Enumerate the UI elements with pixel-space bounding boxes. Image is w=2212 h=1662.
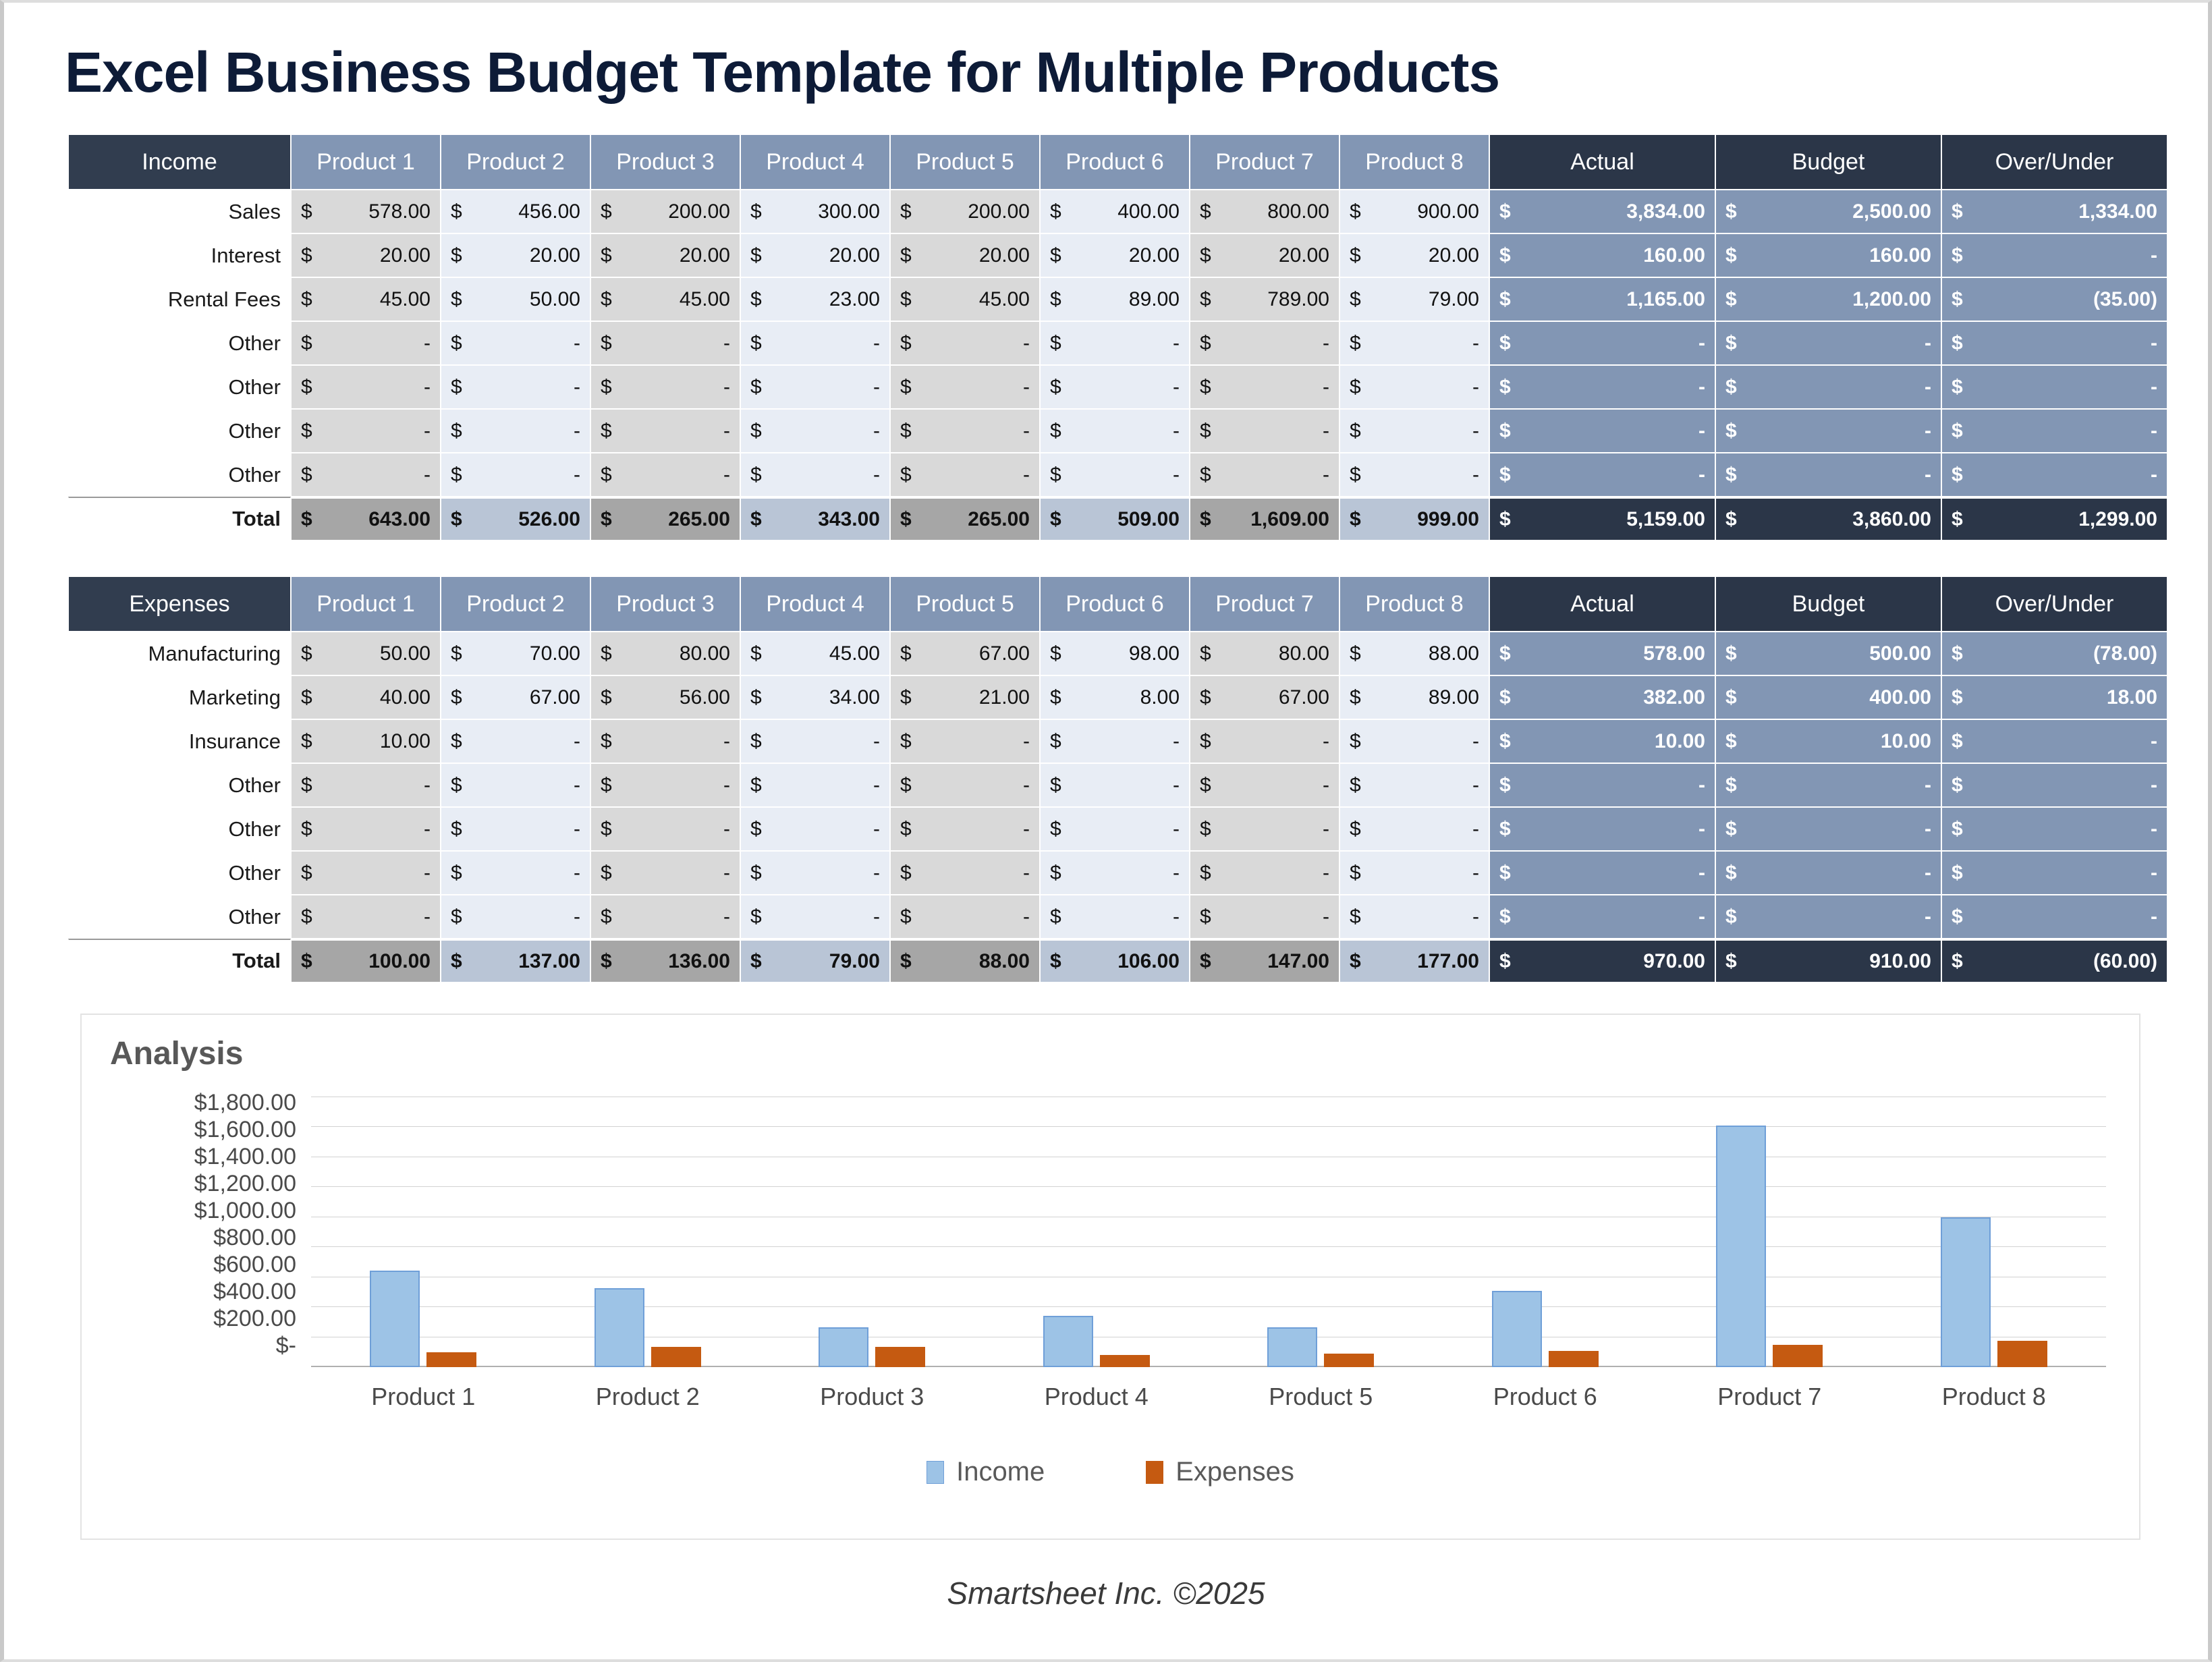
currency-symbol: $ <box>1499 730 1511 753</box>
income-cell-r1-p5[interactable]: $200.00 <box>890 190 1040 233</box>
bar-income-4[interactable] <box>1043 1316 1093 1367</box>
expenses-budget-r3[interactable]: $10.00 <box>1715 719 1941 763</box>
expenses-cell-r6-p8[interactable]: $- <box>1339 851 1489 895</box>
currency-symbol: $ <box>601 730 612 753</box>
expenses-cell-r7-p1[interactable]: $- <box>291 895 441 939</box>
expenses-total-p8[interactable]: $177.00 <box>1339 939 1489 982</box>
expenses-budget-r2[interactable]: $400.00 <box>1715 675 1941 719</box>
expenses-actual-r5[interactable]: $- <box>1489 807 1715 851</box>
expenses-cell-r1-p4[interactable]: $45.00 <box>740 632 890 675</box>
currency-symbol: $ <box>451 464 462 487</box>
income-cell-r7-p5[interactable]: $- <box>890 453 1040 497</box>
income-cell-r6-p7[interactable]: $- <box>1190 409 1339 453</box>
expenses-cell-r1-p2[interactable]: $70.00 <box>441 632 590 675</box>
cell-value: - <box>1698 420 1705 442</box>
cell-value: - <box>873 332 880 354</box>
expenses-row-label[interactable]: Manufacturing <box>68 632 291 675</box>
expenses-cell-r3-p2[interactable]: $- <box>441 719 590 763</box>
expenses-total-p1[interactable]: $100.00 <box>291 939 441 982</box>
currency-symbol: $ <box>1952 332 1963 355</box>
currency-symbol: $ <box>601 244 612 267</box>
bar-income-3[interactable] <box>819 1327 868 1367</box>
expenses-cell-r1-p3[interactable]: $80.00 <box>590 632 740 675</box>
expenses-cell-r2-p7[interactable]: $67.00 <box>1190 675 1339 719</box>
income-cell-r4-p3[interactable]: $- <box>590 321 740 365</box>
expenses-cell-r2-p3[interactable]: $56.00 <box>590 675 740 719</box>
expenses-actual-r7[interactable]: $- <box>1489 895 1715 939</box>
income-overunder-r6[interactable]: $- <box>1941 409 2167 453</box>
cell-value: - <box>1925 420 1931 442</box>
currency-symbol: $ <box>1499 464 1511 487</box>
expenses-total-p2[interactable]: $137.00 <box>441 939 590 982</box>
income-overunder-r3[interactable]: $(35.00) <box>1941 277 2167 321</box>
currency-symbol: $ <box>750 332 762 355</box>
income-cell-r4-p7[interactable]: $- <box>1190 321 1339 365</box>
chart-title: Analysis <box>110 1035 243 1072</box>
currency-symbol: $ <box>1200 774 1211 797</box>
currency-symbol: $ <box>1499 686 1511 709</box>
bar-expenses-2[interactable] <box>651 1347 701 1367</box>
expenses-cell-r1-p8[interactable]: $88.00 <box>1339 632 1489 675</box>
currency-symbol: $ <box>900 642 912 665</box>
expenses-cell-r6-p5[interactable]: $- <box>890 851 1040 895</box>
income-cell-r7-p4[interactable]: $- <box>740 453 890 497</box>
income-total-budget[interactable]: $3,860.00 <box>1715 497 1941 541</box>
income-cell-r6-p4[interactable]: $- <box>740 409 890 453</box>
income-budget-r6[interactable]: $- <box>1715 409 1941 453</box>
expenses-actual-r3[interactable]: $10.00 <box>1489 719 1715 763</box>
bar-expenses-3[interactable] <box>875 1347 925 1367</box>
income-cell-r5-p4[interactable]: $- <box>740 365 890 409</box>
income-cell-r5-p3[interactable]: $- <box>590 365 740 409</box>
income-overunder-r2[interactable]: $- <box>1941 233 2167 277</box>
analysis-chart-panel: Analysis $1,800.00$1,600.00$1,400.00$1,2… <box>80 1014 2140 1540</box>
expenses-budget-r4[interactable]: $- <box>1715 763 1941 807</box>
expenses-cell-r5-p8[interactable]: $- <box>1339 807 1489 851</box>
cell-value: 106.00 <box>1117 950 1180 972</box>
expenses-budget-r1[interactable]: $500.00 <box>1715 632 1941 675</box>
expenses-cell-r5-p6[interactable]: $- <box>1040 807 1190 851</box>
expenses-cell-r3-p8[interactable]: $- <box>1339 719 1489 763</box>
expenses-total-p4[interactable]: $79.00 <box>740 939 890 982</box>
expenses-row-label[interactable]: Other <box>68 763 291 807</box>
expenses-cell-r4-p7[interactable]: $- <box>1190 763 1339 807</box>
income-total-label: Total <box>68 497 291 541</box>
expenses-actual-r1[interactable]: $578.00 <box>1489 632 1715 675</box>
cell-value: 45.00 <box>829 642 880 665</box>
expenses-budget-r7[interactable]: $- <box>1715 895 1941 939</box>
expenses-cell-r4-p2[interactable]: $- <box>441 763 590 807</box>
income-cell-r1-p6[interactable]: $400.00 <box>1040 190 1190 233</box>
table-row: Insurance$10.00$-$-$-$-$-$-$-$10.00$10.0… <box>68 719 2167 763</box>
cell-value: 1,609.00 <box>1250 508 1329 530</box>
income-actual-r3[interactable]: $1,165.00 <box>1489 277 1715 321</box>
income-total-p3[interactable]: $265.00 <box>590 497 740 541</box>
bar-income-1[interactable] <box>370 1271 420 1367</box>
income-cell-r5-p1[interactable]: $- <box>291 365 441 409</box>
income-total-actual[interactable]: $5,159.00 <box>1489 497 1715 541</box>
expenses-overunder-r6[interactable]: $- <box>1941 851 2167 895</box>
expenses-total-row: Total$100.00$137.00$136.00$79.00$88.00$1… <box>68 939 2167 982</box>
income-cell-r3-p5[interactable]: $45.00 <box>890 277 1040 321</box>
currency-symbol: $ <box>451 906 462 929</box>
expenses-overunder-r3[interactable]: $- <box>1941 719 2167 763</box>
income-actual-r1[interactable]: $3,834.00 <box>1489 190 1715 233</box>
y-tick-label-5: $800.00 <box>82 1224 304 1251</box>
income-cell-r1-p7[interactable]: $800.00 <box>1190 190 1339 233</box>
income-cell-r3-p4[interactable]: $23.00 <box>740 277 890 321</box>
income-cell-r1-p3[interactable]: $200.00 <box>590 190 740 233</box>
income-cell-r4-p6[interactable]: $- <box>1040 321 1190 365</box>
gridline-800 <box>311 1246 2106 1247</box>
currency-symbol: $ <box>451 642 462 665</box>
income-cell-r7-p6[interactable]: $- <box>1040 453 1190 497</box>
currency-symbol: $ <box>900 244 912 267</box>
expenses-total-budget[interactable]: $910.00 <box>1715 939 1941 982</box>
expenses-summary-header-over-under: Over/Under <box>1941 576 2167 632</box>
expenses-cell-r5-p3[interactable]: $- <box>590 807 740 851</box>
income-cell-r7-p2[interactable]: $- <box>441 453 590 497</box>
expenses-overunder-r7[interactable]: $- <box>1941 895 2167 939</box>
expenses-cell-r7-p5[interactable]: $- <box>890 895 1040 939</box>
income-budget-r3[interactable]: $1,200.00 <box>1715 277 1941 321</box>
bar-income-8[interactable] <box>1941 1217 1991 1367</box>
bar-income-2[interactable] <box>595 1288 644 1367</box>
bar-income-5[interactable] <box>1267 1327 1317 1367</box>
income-budget-r4[interactable]: $- <box>1715 321 1941 365</box>
cell-value: - <box>424 376 431 398</box>
legend-swatch-income-icon <box>927 1461 944 1484</box>
expenses-cell-r7-p4[interactable]: $- <box>740 895 890 939</box>
expenses-category-header: Expenses <box>68 576 291 632</box>
cell-value: 1,334.00 <box>2078 200 2157 223</box>
income-overunder-r4[interactable]: $- <box>1941 321 2167 365</box>
income-row-label[interactable]: Rental Fees <box>68 277 291 321</box>
income-cell-r3-p7[interactable]: $789.00 <box>1190 277 1339 321</box>
currency-symbol: $ <box>301 288 312 311</box>
income-cell-r2-p2[interactable]: $20.00 <box>441 233 590 277</box>
expenses-cell-r5-p4[interactable]: $- <box>740 807 890 851</box>
expenses-cell-r3-p3[interactable]: $- <box>590 719 740 763</box>
income-cell-r7-p1[interactable]: $- <box>291 453 441 497</box>
expenses-cell-r4-p5[interactable]: $- <box>890 763 1040 807</box>
bar-income-7[interactable] <box>1716 1126 1766 1367</box>
currency-symbol: $ <box>1952 642 1963 665</box>
cell-value: - <box>873 420 880 442</box>
expenses-total-overunder[interactable]: $(60.00) <box>1941 939 2167 982</box>
cell-value: 67.00 <box>1279 686 1329 709</box>
expenses-cell-r1-p1[interactable]: $50.00 <box>291 632 441 675</box>
income-total-p1[interactable]: $643.00 <box>291 497 441 541</box>
currency-symbol: $ <box>900 464 912 487</box>
currency-symbol: $ <box>750 950 762 973</box>
income-total-p8[interactable]: $999.00 <box>1339 497 1489 541</box>
cell-value: 265.00 <box>668 508 730 530</box>
expenses-cell-r6-p3[interactable]: $- <box>590 851 740 895</box>
cell-value: - <box>1925 774 1931 796</box>
bar-expenses-5[interactable] <box>1324 1354 1374 1367</box>
income-actual-r7[interactable]: $- <box>1489 453 1715 497</box>
bar-expenses-4[interactable] <box>1100 1355 1150 1367</box>
expenses-row-label[interactable]: Other <box>68 807 291 851</box>
income-cell-r5-p2[interactable]: $- <box>441 365 590 409</box>
income-cell-r4-p8[interactable]: $- <box>1339 321 1489 365</box>
expenses-budget-r6[interactable]: $- <box>1715 851 1941 895</box>
income-cell-r6-p1[interactable]: $- <box>291 409 441 453</box>
income-cell-r6-p5[interactable]: $- <box>890 409 1040 453</box>
cell-value: 88.00 <box>1429 642 1479 665</box>
income-cell-r4-p2[interactable]: $- <box>441 321 590 365</box>
expenses-overunder-r5[interactable]: $- <box>1941 807 2167 851</box>
income-cell-r2-p1[interactable]: $20.00 <box>291 233 441 277</box>
expenses-cell-r2-p6[interactable]: $8.00 <box>1040 675 1190 719</box>
income-summary-header-actual: Actual <box>1489 134 1715 190</box>
expenses-total-actual[interactable]: $970.00 <box>1489 939 1715 982</box>
expenses-cell-r3-p5[interactable]: $- <box>890 719 1040 763</box>
expenses-total-p5[interactable]: $88.00 <box>890 939 1040 982</box>
bar-expenses-8[interactable] <box>1997 1341 2047 1367</box>
expenses-cell-r2-p5[interactable]: $21.00 <box>890 675 1040 719</box>
income-cell-r7-p7[interactable]: $- <box>1190 453 1339 497</box>
cell-value: - <box>574 376 580 398</box>
income-cell-r6-p6[interactable]: $- <box>1040 409 1190 453</box>
expenses-actual-r2[interactable]: $382.00 <box>1489 675 1715 719</box>
income-actual-r6[interactable]: $- <box>1489 409 1715 453</box>
cell-value: - <box>1925 862 1931 884</box>
expenses-cell-r4-p3[interactable]: $- <box>590 763 740 807</box>
income-cell-r2-p7[interactable]: $20.00 <box>1190 233 1339 277</box>
cell-value: - <box>1173 464 1180 486</box>
income-cell-r6-p3[interactable]: $- <box>590 409 740 453</box>
income-total-p5[interactable]: $265.00 <box>890 497 1040 541</box>
expenses-row-label[interactable]: Insurance <box>68 719 291 763</box>
income-cell-r2-p5[interactable]: $20.00 <box>890 233 1040 277</box>
expenses-cell-r3-p4[interactable]: $- <box>740 719 890 763</box>
y-tick-label-2: $1,400.00 <box>82 1143 304 1170</box>
gridline-1200 <box>311 1186 2106 1187</box>
income-total-p2[interactable]: $526.00 <box>441 497 590 541</box>
expenses-total-p3[interactable]: $136.00 <box>590 939 740 982</box>
cell-value: - <box>1023 464 1030 486</box>
income-total-overunder[interactable]: $1,299.00 <box>1941 497 2167 541</box>
cell-value: 10.00 <box>380 730 431 752</box>
currency-symbol: $ <box>1050 906 1061 929</box>
expenses-overunder-r2[interactable]: $18.00 <box>1941 675 2167 719</box>
expenses-total-p6[interactable]: $106.00 <box>1040 939 1190 982</box>
cell-value: 45.00 <box>979 288 1030 310</box>
bar-expenses-1[interactable] <box>426 1352 476 1367</box>
income-cell-r2-p4[interactable]: $20.00 <box>740 233 890 277</box>
income-cell-r2-p3[interactable]: $20.00 <box>590 233 740 277</box>
currency-symbol: $ <box>1952 686 1963 709</box>
expenses-overunder-r4[interactable]: $- <box>1941 763 2167 807</box>
currency-symbol: $ <box>750 862 762 885</box>
income-cell-r3-p2[interactable]: $50.00 <box>441 277 590 321</box>
income-summary-header-over-under: Over/Under <box>1941 134 2167 190</box>
income-header-row: IncomeProduct 1Product 2Product 3Product… <box>68 134 2167 190</box>
bar-income-6[interactable] <box>1492 1291 1542 1367</box>
income-cell-r3-p6[interactable]: $89.00 <box>1040 277 1190 321</box>
currency-symbol: $ <box>1499 332 1511 355</box>
expenses-cell-r7-p2[interactable]: $- <box>441 895 590 939</box>
currency-symbol: $ <box>451 774 462 797</box>
expenses-cell-r4-p6[interactable]: $- <box>1040 763 1190 807</box>
cell-value: - <box>1472 818 1479 840</box>
expenses-cell-r1-p7[interactable]: $80.00 <box>1190 632 1339 675</box>
income-cell-r5-p7[interactable]: $- <box>1190 365 1339 409</box>
currency-symbol: $ <box>601 862 612 885</box>
income-row-label[interactable]: Other <box>68 321 291 365</box>
currency-symbol: $ <box>1499 774 1511 797</box>
expenses-cell-r6-p2[interactable]: $- <box>441 851 590 895</box>
income-row-label[interactable]: Other <box>68 365 291 409</box>
income-cell-r7-p3[interactable]: $- <box>590 453 740 497</box>
income-budget-r2[interactable]: $160.00 <box>1715 233 1941 277</box>
expenses-row-label[interactable]: Other <box>68 851 291 895</box>
expenses-cell-r2-p8[interactable]: $89.00 <box>1339 675 1489 719</box>
expenses-cell-r5-p1[interactable]: $- <box>291 807 441 851</box>
income-row-label[interactable]: Interest <box>68 233 291 277</box>
expenses-cell-r3-p1[interactable]: $10.00 <box>291 719 441 763</box>
expenses-cell-r2-p2[interactable]: $67.00 <box>441 675 590 719</box>
income-overunder-r7[interactable]: $- <box>1941 453 2167 497</box>
currency-symbol: $ <box>1050 686 1061 709</box>
expenses-cell-r7-p6[interactable]: $- <box>1040 895 1190 939</box>
cell-value: - <box>1698 818 1705 840</box>
expenses-cell-r7-p8[interactable]: $- <box>1339 895 1489 939</box>
expenses-cell-r4-p4[interactable]: $- <box>740 763 890 807</box>
income-overunder-r1[interactable]: $1,334.00 <box>1941 190 2167 233</box>
income-cell-r1-p4[interactable]: $300.00 <box>740 190 890 233</box>
expenses-actual-r6[interactable]: $- <box>1489 851 1715 895</box>
expenses-cell-r3-p7[interactable]: $- <box>1190 719 1339 763</box>
legend-item-income[interactable]: Income <box>927 1457 1045 1487</box>
income-table: IncomeProduct 1Product 2Product 3Product… <box>68 134 2167 541</box>
cell-value: 20.00 <box>530 244 580 267</box>
expenses-cell-r2-p4[interactable]: $34.00 <box>740 675 890 719</box>
income-budget-r1[interactable]: $2,500.00 <box>1715 190 1941 233</box>
currency-symbol: $ <box>900 774 912 797</box>
income-cell-r4-p1[interactable]: $- <box>291 321 441 365</box>
bar-expenses-6[interactable] <box>1549 1351 1599 1367</box>
gridline-1400 <box>311 1157 2106 1157</box>
expenses-cell-r6-p1[interactable]: $- <box>291 851 441 895</box>
income-actual-r5[interactable]: $- <box>1489 365 1715 409</box>
expenses-cell-r4-p8[interactable]: $- <box>1339 763 1489 807</box>
cell-value: 89.00 <box>1129 288 1180 310</box>
cell-value: 578.00 <box>368 200 431 223</box>
income-row-label[interactable]: Sales <box>68 190 291 233</box>
y-tick-label-3: $1,200.00 <box>82 1170 304 1197</box>
cell-value: - <box>2151 420 2157 442</box>
currency-symbol: $ <box>750 288 762 311</box>
currency-symbol: $ <box>451 244 462 267</box>
income-total-p7[interactable]: $1,609.00 <box>1190 497 1339 541</box>
expenses-cell-r4-p1[interactable]: $- <box>291 763 441 807</box>
expenses-cell-r6-p7[interactable]: $- <box>1190 851 1339 895</box>
currency-symbol: $ <box>750 686 762 709</box>
income-total-p4[interactable]: $343.00 <box>740 497 890 541</box>
income-cell-r3-p3[interactable]: $45.00 <box>590 277 740 321</box>
expenses-cell-r5-p2[interactable]: $- <box>441 807 590 851</box>
expenses-product-header-7: Product 7 <box>1190 576 1339 632</box>
income-cell-r5-p5[interactable]: $- <box>890 365 1040 409</box>
table-row: Other$-$-$-$-$-$-$-$-$-$-$- <box>68 365 2167 409</box>
income-cell-r5-p6[interactable]: $- <box>1040 365 1190 409</box>
currency-symbol: $ <box>1952 464 1963 487</box>
expenses-cell-r1-p6[interactable]: $98.00 <box>1040 632 1190 675</box>
income-cell-r1-p2[interactable]: $456.00 <box>441 190 590 233</box>
cell-value: - <box>1023 730 1030 752</box>
income-row-label[interactable]: Other <box>68 409 291 453</box>
cell-value: - <box>2151 244 2157 267</box>
income-cell-r1-p8[interactable]: $900.00 <box>1339 190 1489 233</box>
income-cell-r5-p8[interactable]: $- <box>1339 365 1489 409</box>
currency-symbol: $ <box>1952 508 1963 531</box>
income-actual-r2[interactable]: $160.00 <box>1489 233 1715 277</box>
expenses-total-p7[interactable]: $147.00 <box>1190 939 1339 982</box>
cell-value: - <box>2151 862 2157 884</box>
cell-value: 10.00 <box>1655 730 1705 752</box>
income-cell-r3-p8[interactable]: $79.00 <box>1339 277 1489 321</box>
expenses-cell-r7-p3[interactable]: $- <box>590 895 740 939</box>
currency-symbol: $ <box>1050 642 1061 665</box>
income-cell-r6-p8[interactable]: $- <box>1339 409 1489 453</box>
expenses-actual-r4[interactable]: $- <box>1489 763 1715 807</box>
page-title: Excel Business Budget Template for Multi… <box>65 40 1499 105</box>
expenses-row-label[interactable]: Marketing <box>68 675 291 719</box>
income-actual-r4[interactable]: $- <box>1489 321 1715 365</box>
table-row: Other$-$-$-$-$-$-$-$-$-$-$- <box>68 851 2167 895</box>
expenses-budget-r5[interactable]: $- <box>1715 807 1941 851</box>
expenses-cell-r3-p6[interactable]: $- <box>1040 719 1190 763</box>
expenses-cell-r7-p7[interactable]: $- <box>1190 895 1339 939</box>
expenses-cell-r6-p4[interactable]: $- <box>740 851 890 895</box>
expenses-cell-r5-p5[interactable]: $- <box>890 807 1040 851</box>
income-cell-r6-p2[interactable]: $- <box>441 409 590 453</box>
expenses-cell-r2-p1[interactable]: $40.00 <box>291 675 441 719</box>
cell-value: - <box>1023 420 1030 442</box>
cell-value: - <box>873 774 880 796</box>
x-tick-label-8: Product 8 <box>1882 1383 2107 1411</box>
income-row-label[interactable]: Other <box>68 453 291 497</box>
y-tick-label-9: $- <box>82 1332 304 1359</box>
income-cell-r1-p1[interactable]: $578.00 <box>291 190 441 233</box>
chart-x-axis-labels: Product 1Product 2Product 3Product 4Prod… <box>311 1383 2106 1423</box>
legend-label: Expenses <box>1176 1457 1294 1487</box>
income-budget-r7[interactable]: $- <box>1715 453 1941 497</box>
income-cell-r4-p5[interactable]: $- <box>890 321 1040 365</box>
expenses-overunder-r1[interactable]: $(78.00) <box>1941 632 2167 675</box>
income-budget-r5[interactable]: $- <box>1715 365 1941 409</box>
expenses-cell-r6-p6[interactable]: $- <box>1040 851 1190 895</box>
currency-symbol: $ <box>1952 774 1963 797</box>
legend-swatch-expenses-icon <box>1146 1461 1163 1484</box>
income-cell-r7-p8[interactable]: $- <box>1339 453 1489 497</box>
income-cell-r2-p6[interactable]: $20.00 <box>1040 233 1190 277</box>
income-total-p6[interactable]: $509.00 <box>1040 497 1190 541</box>
expenses-row-label[interactable]: Other <box>68 895 291 939</box>
expenses-product-header-8: Product 8 <box>1339 576 1489 632</box>
expenses-cell-r5-p7[interactable]: $- <box>1190 807 1339 851</box>
income-overunder-r5[interactable]: $- <box>1941 365 2167 409</box>
bar-expenses-7[interactable] <box>1773 1345 1823 1367</box>
income-cell-r3-p1[interactable]: $45.00 <box>291 277 441 321</box>
legend-item-expenses[interactable]: Expenses <box>1146 1457 1294 1487</box>
expenses-cell-r1-p5[interactable]: $67.00 <box>890 632 1040 675</box>
income-cell-r4-p4[interactable]: $- <box>740 321 890 365</box>
income-cell-r2-p8[interactable]: $20.00 <box>1339 233 1489 277</box>
